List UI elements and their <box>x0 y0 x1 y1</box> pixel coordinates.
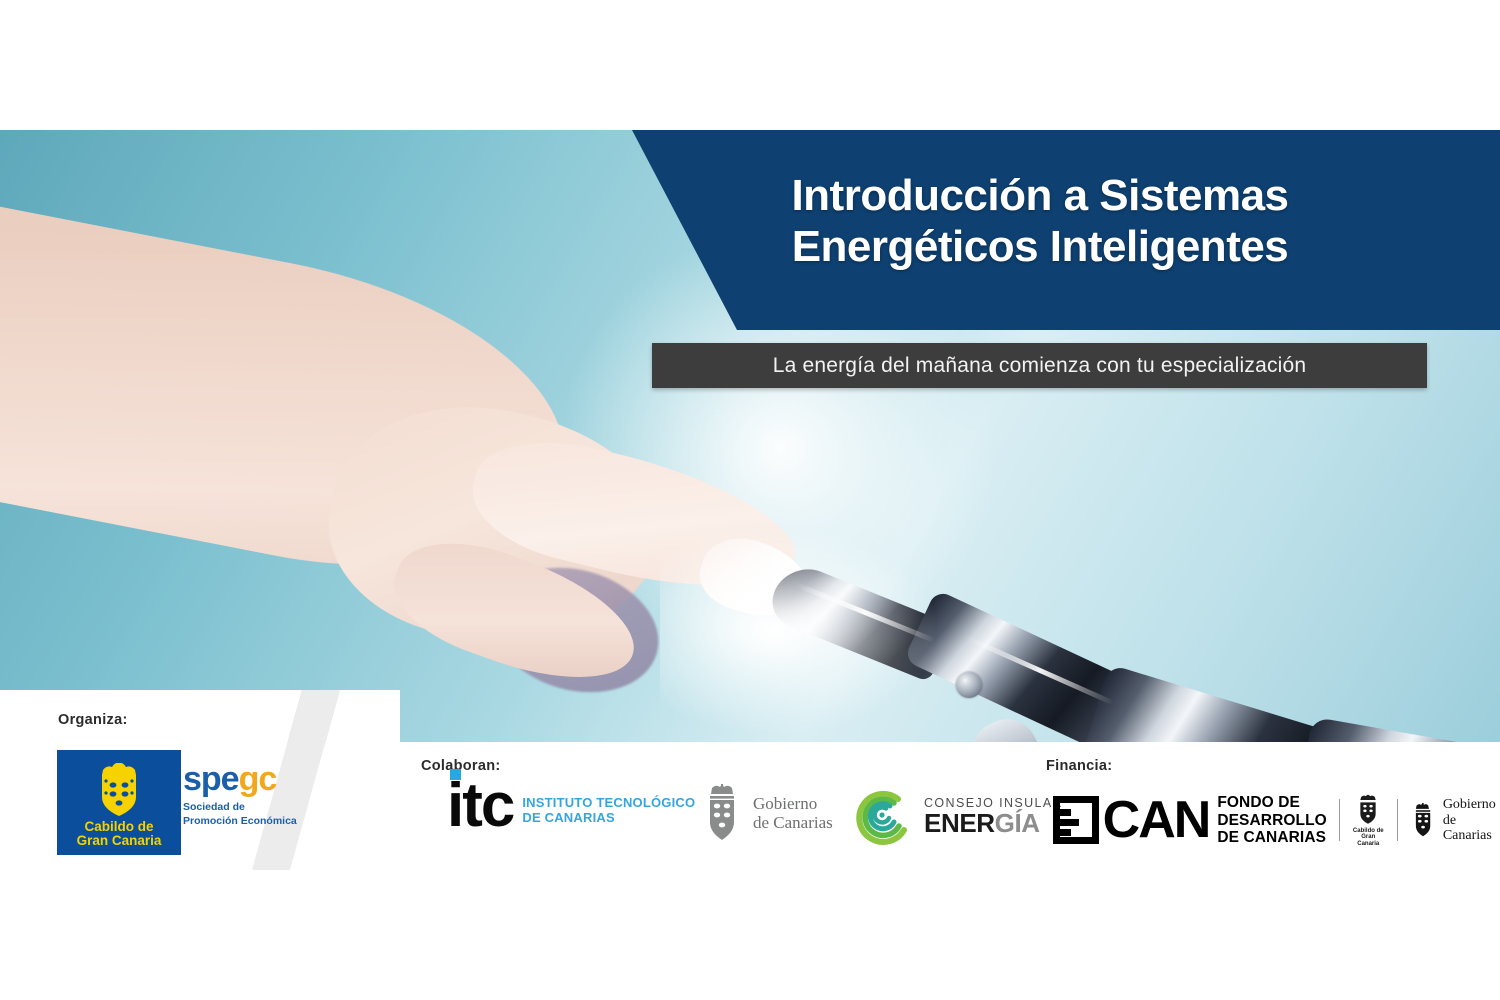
consejo-insular-energia-logo[interactable]: CONSEJO INSULAR ENERGÍA <box>852 786 1063 848</box>
cabildo-line-2: Gran Canaria <box>77 834 162 849</box>
gobierno-mono-logo[interactable]: Gobierno de Canarias <box>1410 797 1500 843</box>
title-line-2: Energéticos Inteligentes <box>640 221 1440 272</box>
robot-joint-screw-1 <box>956 672 982 698</box>
gobierno-shield-icon <box>700 784 744 842</box>
itc-tagline-line-1: INSTITUTO TECNOLÓGICO <box>522 795 695 810</box>
cabildo-mono-shield-icon <box>1355 794 1381 826</box>
gobierno-mono-shield-icon <box>1410 800 1436 840</box>
spegc-logo[interactable]: spegc Sociedad de Promoción Económica <box>183 762 297 828</box>
can-divider-2 <box>1397 799 1398 841</box>
gobierno-mono-line-1: Gobierno <box>1443 797 1500 812</box>
cabildo-line-1: Cabildo de <box>77 820 162 835</box>
spegc-word-part-1: spe <box>183 760 239 798</box>
can-tagline: FONDO DE DESARROLLO DE CANARIAS <box>1217 794 1327 846</box>
can-icon-bar-bottom <box>1057 829 1071 836</box>
spegc-tagline: Sociedad de Promoción Económica <box>183 800 297 828</box>
can-divider-1 <box>1339 799 1340 841</box>
spegc-wordmark: spegc <box>183 762 297 796</box>
energia-wordmark: ENERGÍA <box>924 810 1063 837</box>
can-wordmark: CAN <box>1103 797 1210 844</box>
can-square-icon <box>1053 796 1099 844</box>
cabildo-shield-icon <box>96 763 142 817</box>
can-fondo-desarrollo-logo[interactable]: CAN FONDO DE DESARROLLO DE CANARIAS Cabi… <box>1053 794 1500 847</box>
robot-hand-illustration <box>760 560 1500 742</box>
energia-word-part-1: ENER <box>924 808 995 838</box>
can-tagline-line-2: DESARROLLO <box>1217 812 1327 829</box>
cabildo-mono-text: Cabildo de Gran Canaria <box>1352 828 1385 847</box>
gobierno-mono-text: Gobierno de Canarias <box>1443 797 1500 843</box>
gobierno-line-1: Gobierno <box>753 794 833 813</box>
title-line-1: Introducción a Sistemas <box>640 170 1440 221</box>
page-title: Introducción a Sistemas Energéticos Inte… <box>640 170 1440 272</box>
can-icon-bar-middle <box>1057 819 1079 826</box>
cabildo-logo-text: Cabildo de Gran Canaria <box>77 820 162 849</box>
spegc-tagline-line-2: Promoción Económica <box>183 814 297 828</box>
robot-hand-back <box>1292 717 1500 742</box>
cabildo-gran-canaria-logo[interactable]: Cabildo de Gran Canaria <box>57 750 181 855</box>
gobierno-line-2: de Canarias <box>753 813 833 832</box>
itc-square-dot-icon <box>450 769 461 780</box>
itc-tagline: INSTITUTO TECNOLÓGICO DE CANARIAS <box>522 795 695 826</box>
energia-spiral-icon <box>852 786 914 848</box>
energia-word-part-2: GÍA <box>995 808 1040 838</box>
can-tagline-line-1: FONDO DE <box>1217 794 1327 811</box>
itc-wordmark: itc <box>447 782 513 830</box>
spegc-word-part-2: gc <box>239 760 277 798</box>
cabildo-mono-line-2: Gran Canaria <box>1352 834 1385 847</box>
organiza-label: Organiza: <box>58 712 128 728</box>
itc-mark-text: itc <box>447 771 513 840</box>
itc-tagline-line-2: DE CANARIAS <box>522 810 695 825</box>
financia-label: Financia: <box>1046 758 1112 774</box>
can-tagline-line-3: DE CANARIAS <box>1217 829 1327 846</box>
gobierno-de-canarias-logo[interactable]: Gobierno de Canarias <box>700 784 833 842</box>
gobierno-logo-text: Gobierno de Canarias <box>753 794 833 832</box>
gobierno-mono-line-2: de Canarias <box>1443 813 1500 844</box>
spegc-tagline-line-1: Sociedad de <box>183 800 297 814</box>
subtitle-bar: La energía del mañana comienza con tu es… <box>652 343 1427 388</box>
energia-logo-text: CONSEJO INSULAR ENERGÍA <box>924 797 1063 837</box>
cabildo-mono-logo[interactable]: Cabildo de Gran Canaria <box>1352 794 1385 847</box>
poster-canvas: Introducción a Sistemas Energéticos Inte… <box>0 0 1500 1000</box>
subtitle-text: La energía del mañana comienza con tu es… <box>773 354 1307 378</box>
can-icon-bar-top <box>1057 809 1071 816</box>
itc-logo[interactable]: itc INSTITUTO TECNOLÓGICO DE CANARIAS <box>447 782 695 830</box>
